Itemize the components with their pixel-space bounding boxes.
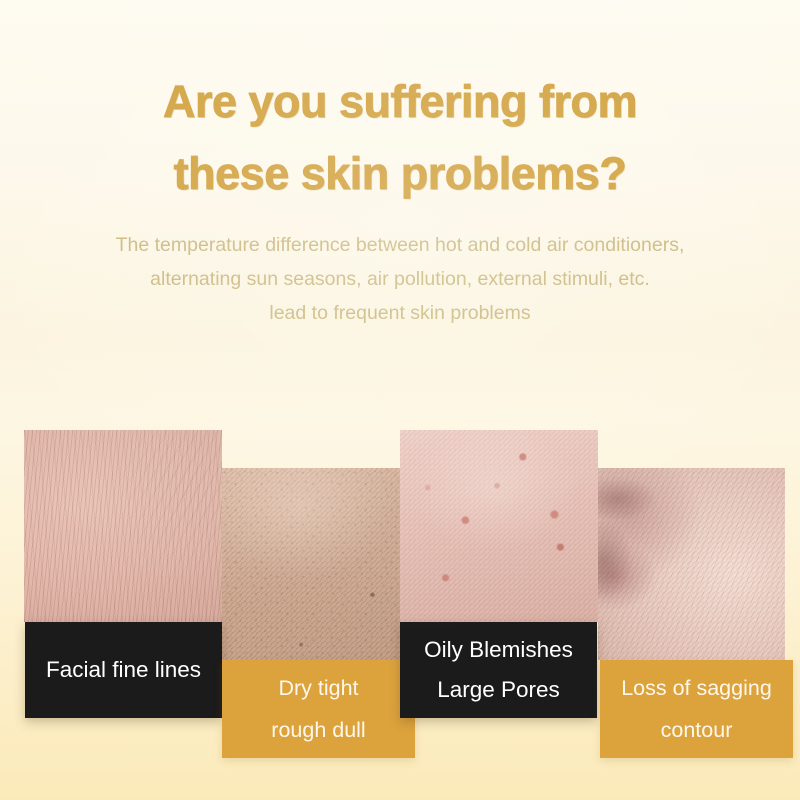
skin-photo-sagging-contour [598, 468, 785, 660]
caption-loss-of-sagging-contour: Loss of sagging contour [600, 660, 793, 758]
caption-2-line-1: Dry tight [278, 667, 358, 709]
caption-1-line-1: Facial fine lines [46, 650, 201, 690]
caption-2-line-2: rough dull [271, 709, 365, 751]
caption-dry-rough-dull: Dry tight rough dull [222, 660, 415, 758]
caption-facial-fine-lines: Facial fine lines [25, 622, 222, 718]
skin-texture-sagging [598, 468, 785, 660]
caption-4-line-1: Loss of sagging [621, 667, 772, 709]
skin-photo-oily-blemishes [400, 430, 598, 622]
skin-texture-blemishes [400, 430, 598, 622]
skin-photo-dry-rough-dull [222, 468, 415, 660]
caption-3-line-1: Oily Blemishes [424, 630, 573, 670]
caption-3-line-2: Large Pores [437, 670, 560, 710]
caption-4-line-2: contour [661, 709, 733, 751]
caption-oily-blemishes-large-pores: Oily Blemishes Large Pores [400, 622, 597, 718]
skin-photo-facial-fine-lines [24, 430, 222, 622]
skin-texture-dry-rough [222, 468, 415, 660]
skin-problem-gallery: Facial fine lines Dry tight rough dull O… [0, 0, 800, 800]
skincare-promo-poster: Are you suffering from these skin proble… [0, 0, 800, 800]
skin-texture-fine-lines [24, 430, 222, 622]
